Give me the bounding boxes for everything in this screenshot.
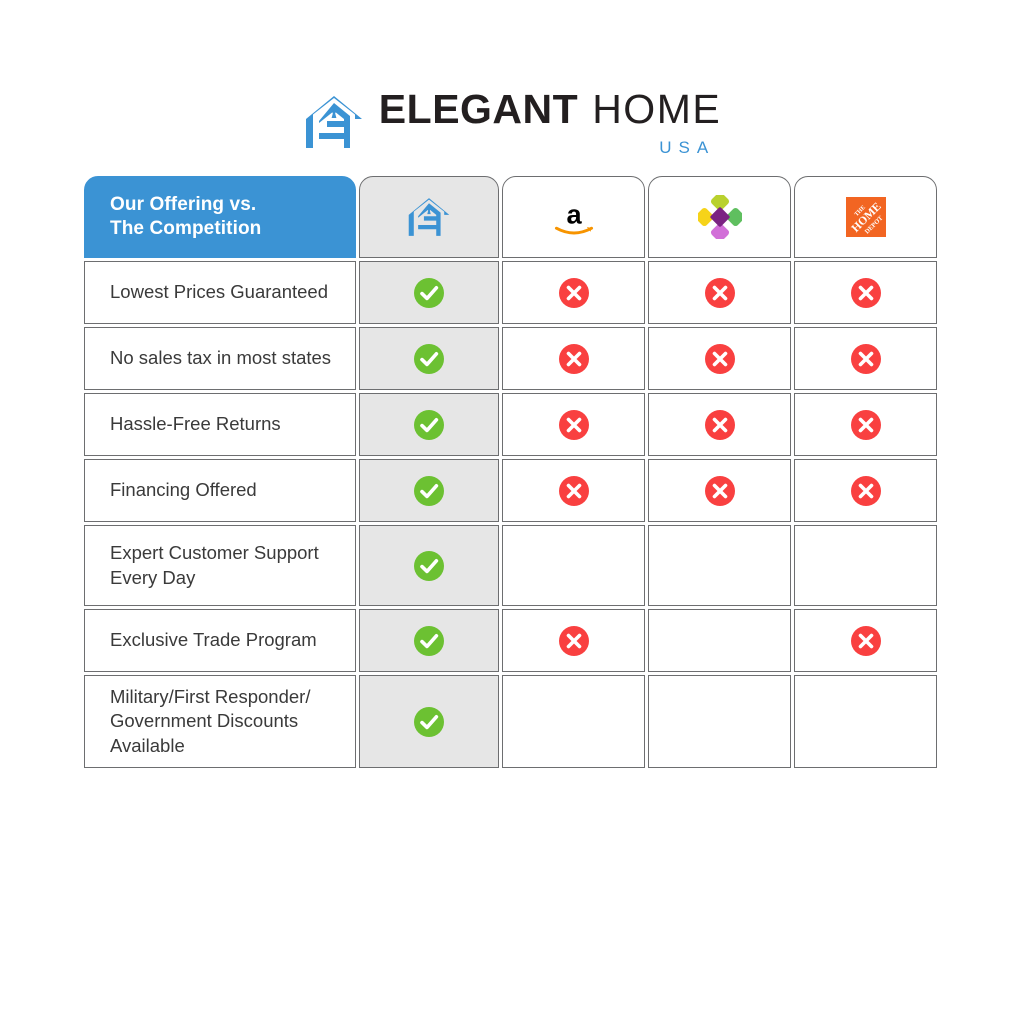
- cross-circle-icon: [704, 343, 736, 375]
- cell-overstock: [648, 261, 791, 324]
- cell-amazon: [502, 609, 645, 672]
- table-row: Hassle-Free Returns: [84, 393, 940, 456]
- cell-amazon: [502, 525, 645, 606]
- row-label: Lowest Prices Guaranteed: [84, 261, 356, 324]
- header-cell-overstock: [648, 176, 791, 258]
- cell-homedepot: [794, 525, 937, 606]
- cell-own: [359, 675, 499, 768]
- check-circle-icon: [413, 277, 445, 309]
- cell-own: [359, 525, 499, 606]
- comparison-table: Our Offering vs. The Competition a: [84, 176, 940, 771]
- cell-homedepot: [794, 261, 937, 324]
- cell-overstock: [648, 327, 791, 390]
- row-label: Financing Offered: [84, 459, 356, 522]
- header-cell-elegant-home: [359, 176, 499, 258]
- home-depot-logo-icon: THE HOME DEPOT: [846, 197, 886, 237]
- cell-own: [359, 609, 499, 672]
- overstock-logo-icon: [698, 195, 742, 239]
- cell-own: [359, 393, 499, 456]
- elegant-home-house-icon: [303, 93, 365, 151]
- header-cell-home-depot: THE HOME DEPOT: [794, 176, 937, 258]
- cross-circle-icon: [558, 343, 590, 375]
- cell-own: [359, 459, 499, 522]
- cell-amazon: [502, 675, 645, 768]
- row-label: No sales tax in most states: [84, 327, 356, 390]
- elegant-home-house-icon: [405, 196, 453, 238]
- table-header-row: Our Offering vs. The Competition a: [84, 176, 940, 258]
- check-circle-icon: [413, 475, 445, 507]
- brand-word-elegant: ELEGANT: [379, 89, 578, 130]
- row-label: Exclusive Trade Program: [84, 609, 356, 672]
- cross-circle-icon: [704, 475, 736, 507]
- cross-circle-icon: [558, 625, 590, 657]
- cell-homedepot: [794, 675, 937, 768]
- cross-circle-icon: [558, 409, 590, 441]
- table-body: Lowest Prices GuaranteedNo sales tax in …: [84, 261, 940, 768]
- cell-overstock: [648, 459, 791, 522]
- cell-amazon: [502, 459, 645, 522]
- cell-own: [359, 261, 499, 324]
- cross-circle-icon: [850, 625, 882, 657]
- table-row: Lowest Prices Guaranteed: [84, 261, 940, 324]
- cross-circle-icon: [704, 277, 736, 309]
- cross-circle-icon: [558, 475, 590, 507]
- row-label: Military/First Responder/ Government Dis…: [84, 675, 356, 768]
- cell-amazon: [502, 393, 645, 456]
- amazon-logo-icon: a: [550, 197, 598, 237]
- table-row: Expert Customer Support Every Day: [84, 525, 940, 606]
- cross-circle-icon: [558, 277, 590, 309]
- svg-text:a: a: [566, 198, 582, 229]
- cell-own: [359, 327, 499, 390]
- header-cell-amazon: a: [502, 176, 645, 258]
- cross-circle-icon: [850, 409, 882, 441]
- table-row: Exclusive Trade Program: [84, 609, 940, 672]
- brand-word-home: HOME: [592, 89, 721, 130]
- check-circle-icon: [413, 550, 445, 582]
- brand-word-usa: USA: [659, 139, 715, 156]
- brand-logo: ELEGANT HOME USA: [0, 84, 1024, 160]
- cell-homedepot: [794, 393, 937, 456]
- cell-overstock: [648, 609, 791, 672]
- cross-circle-icon: [850, 475, 882, 507]
- table-title-cell: Our Offering vs. The Competition: [84, 176, 356, 258]
- check-circle-icon: [413, 343, 445, 375]
- cross-circle-icon: [850, 277, 882, 309]
- cell-overstock: [648, 525, 791, 606]
- table-row: Financing Offered: [84, 459, 940, 522]
- row-label: Hassle-Free Returns: [84, 393, 356, 456]
- cell-overstock: [648, 393, 791, 456]
- cell-amazon: [502, 261, 645, 324]
- check-circle-icon: [413, 706, 445, 738]
- row-label: Expert Customer Support Every Day: [84, 525, 356, 606]
- check-circle-icon: [413, 409, 445, 441]
- cell-amazon: [502, 327, 645, 390]
- table-row: Military/First Responder/ Government Dis…: [84, 675, 940, 768]
- cell-overstock: [648, 675, 791, 768]
- cell-homedepot: [794, 459, 937, 522]
- cross-circle-icon: [704, 409, 736, 441]
- cross-circle-icon: [850, 343, 882, 375]
- cell-homedepot: [794, 609, 937, 672]
- cell-homedepot: [794, 327, 937, 390]
- check-circle-icon: [413, 625, 445, 657]
- table-row: No sales tax in most states: [84, 327, 940, 390]
- table-title-line2: The Competition: [110, 217, 261, 241]
- table-title-line1: Our Offering vs.: [110, 193, 261, 217]
